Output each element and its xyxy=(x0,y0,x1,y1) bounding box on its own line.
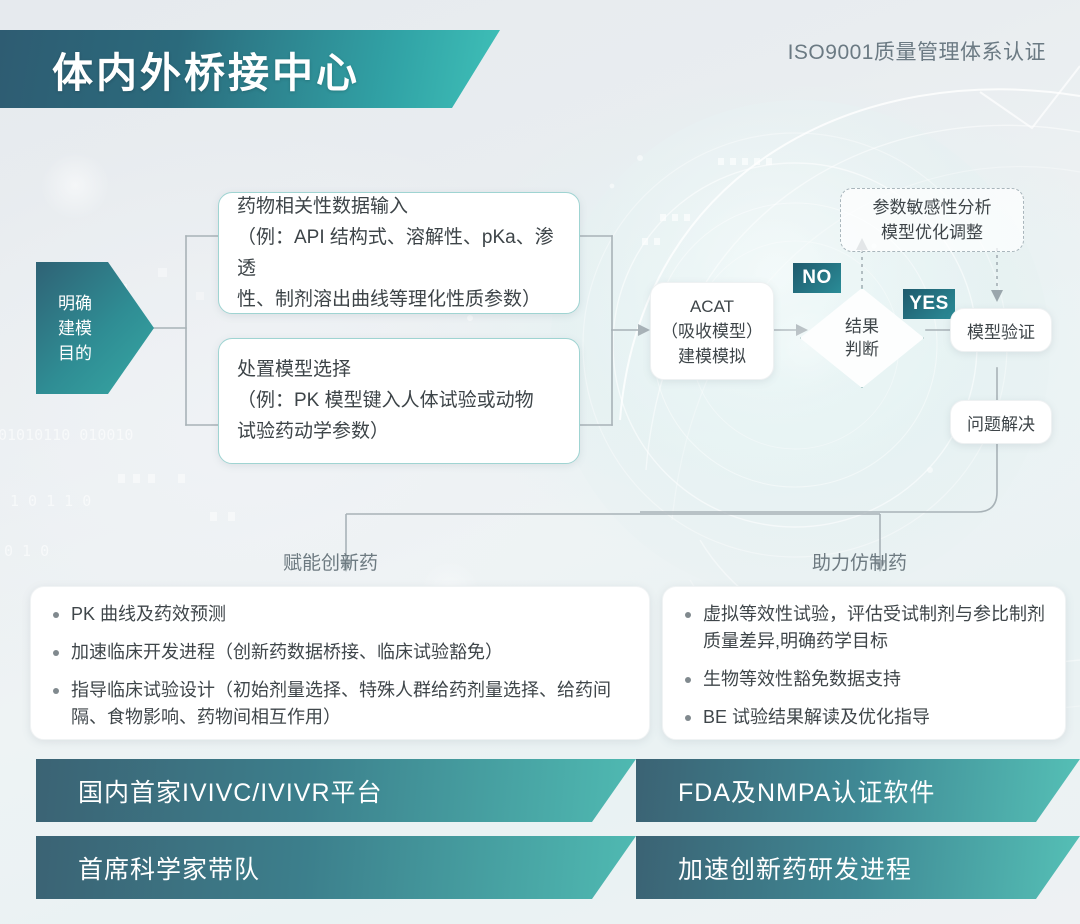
model-selection-box: 处置模型选择 （例：PK 模型键入人体试验或动物 试验药动学参数） xyxy=(218,338,580,464)
banner-1-right: FDA及NMPA认证软件 xyxy=(636,759,1080,822)
model-selection-line-1: （例：PK 模型键入人体试验或动物 xyxy=(237,385,561,416)
purpose-chevron: 明确 建模 目的 xyxy=(36,262,154,394)
list-item: 指导临床试验设计（初始剂量选择、特殊人群给药剂量选择、给药间隔、食物影响、药物间… xyxy=(47,677,631,731)
purpose-line-1: 明确 xyxy=(58,291,92,316)
acat-box: ACAT （吸收模型） 建模模拟 xyxy=(650,282,774,380)
svg-text:01010110 010010: 01010110 010010 xyxy=(0,426,133,444)
sensitivity-analysis-box: 参数敏感性分析 模型优化调整 xyxy=(840,188,1024,252)
branch-tag-no: NO xyxy=(793,263,841,293)
purpose-line-3: 目的 xyxy=(58,341,92,366)
drug-data-input-line-2: 性、制剂溶出曲线等理化性质参数） xyxy=(237,284,561,315)
banner-row-2: 首席科学家带队 加速创新药研发进程 xyxy=(0,836,1080,899)
drug-data-input-title: 药物相关性数据输入 xyxy=(237,192,561,222)
innovative-drug-list: PK 曲线及药效预测 加速临床开发进程（创新药数据桥接、临床试验豁免） 指导临床… xyxy=(30,586,650,740)
model-selection-line-2: 试验药动学参数） xyxy=(237,416,561,447)
list-item: 生物等效性豁免数据支持 xyxy=(679,666,1047,693)
banner-1-left: 国内首家IVIVC/IVIVR平台 xyxy=(36,759,636,822)
section-label-generic: 助力仿制药 xyxy=(812,548,907,575)
list-item: PK 曲线及药效预测 xyxy=(47,601,631,628)
drug-data-input-line-1: （例：API 结构式、溶解性、pKa、渗透 xyxy=(237,222,561,284)
list-item: 虚拟等效性试验，评估受试制剂与参比制剂质量差异,明确药学目标 xyxy=(679,601,1047,655)
banner-2-left: 首席科学家带队 xyxy=(36,836,636,899)
sensitivity-line-1: 参数敏感性分析 xyxy=(873,195,992,220)
decision-line-1: 结果 xyxy=(845,315,879,338)
iso-certification-label: ISO9001质量管理体系认证 xyxy=(788,36,1046,66)
acat-line-3: 建模模拟 xyxy=(678,344,746,369)
svg-text:1 0 1 1 0: 1 0 1 1 0 xyxy=(10,492,91,510)
list-item: BE 试验结果解读及优化指导 xyxy=(679,704,1047,731)
sensitivity-line-2: 模型优化调整 xyxy=(881,220,983,245)
section-label-innovative: 赋能创新药 xyxy=(283,548,378,575)
banner-row-1: 国内首家IVIVC/IVIVR平台 FDA及NMPA认证软件 xyxy=(0,759,1080,822)
model-validation-box: 模型验证 xyxy=(950,308,1052,352)
infographic-canvas: 01010110 010010 1 0 1 1 0 0 1 0 xyxy=(0,0,1080,924)
acat-line-2: （吸收模型） xyxy=(661,319,763,344)
problem-resolution-box: 问题解决 xyxy=(950,400,1052,444)
page-title: 体内外桥接中心 xyxy=(52,38,482,100)
generic-drug-list: 虚拟等效性试验，评估受试制剂与参比制剂质量差异,明确药学目标 生物等效性豁免数据… xyxy=(662,586,1066,740)
model-selection-title: 处置模型选择 xyxy=(237,355,561,385)
svg-text:0 1 0: 0 1 0 xyxy=(4,542,49,560)
banner-2-right: 加速创新药研发进程 xyxy=(636,836,1080,899)
decision-line-2: 判断 xyxy=(845,338,879,361)
drug-data-input-box: 药物相关性数据输入 （例：API 结构式、溶解性、pKa、渗透 性、制剂溶出曲线… xyxy=(218,192,580,314)
glow-blob xyxy=(40,150,110,220)
acat-line-1: ACAT xyxy=(690,294,734,319)
list-item: 加速临床开发进程（创新药数据桥接、临床试验豁免） xyxy=(47,639,631,666)
purpose-line-2: 建模 xyxy=(58,316,92,341)
problem-resolution-label: 问题解决 xyxy=(967,410,1035,435)
model-validation-label: 模型验证 xyxy=(967,318,1035,343)
branch-tag-yes: YES xyxy=(903,289,955,319)
